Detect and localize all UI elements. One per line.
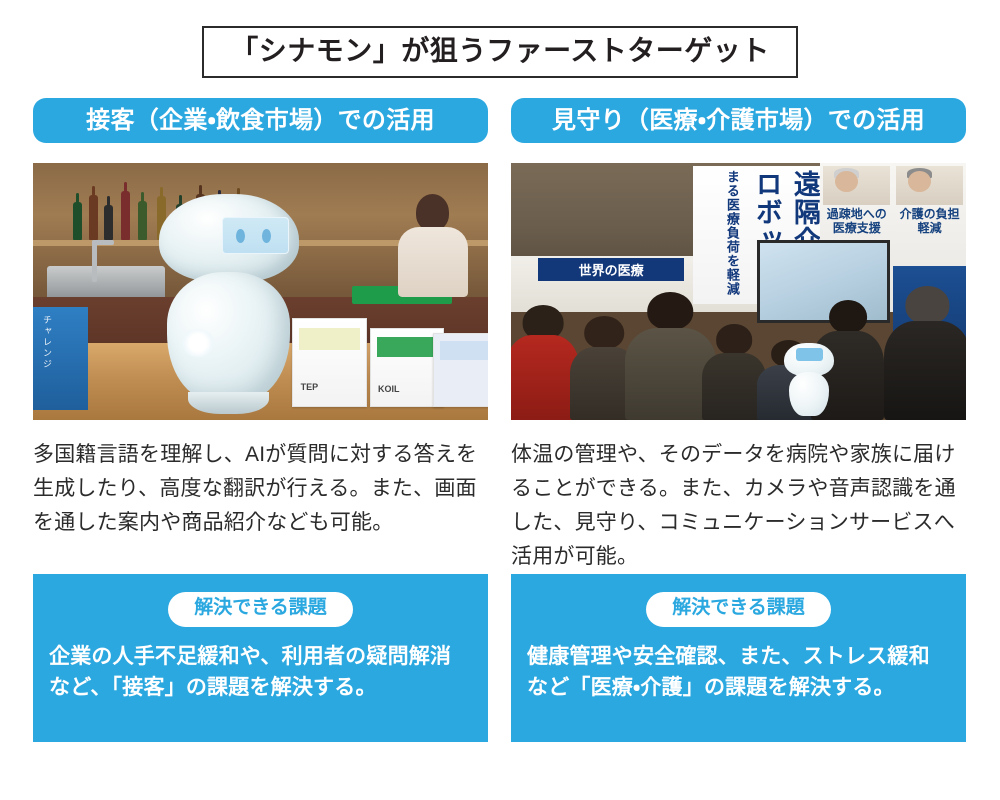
visitor-torso: [884, 321, 966, 420]
banner-text-reduce-burden: まる医療負荷を軽減: [726, 170, 739, 298]
brochure-band: [440, 341, 488, 360]
robot-head: [159, 194, 299, 283]
blue-standee-sign: チャレンジ: [33, 307, 88, 410]
robot-body: [167, 272, 289, 402]
brochure-holder: [433, 333, 488, 407]
page-title-wrap: 「シナモン」が狙うファーストターゲット: [0, 26, 1000, 78]
columns-container: 接客（企業・飲食市場）での活用 チ: [33, 98, 967, 742]
staff-body: [398, 227, 468, 297]
sign-world-medical: 世界の医療: [538, 258, 684, 281]
robot-eye-left: [236, 229, 245, 243]
solution-badge-wrap: 解決できる課題: [49, 592, 472, 627]
care-robot-body: [789, 372, 829, 417]
column-customer-service: 接客（企業・飲食市場）での活用 チ: [33, 98, 488, 742]
robot-face-screen: [222, 217, 290, 254]
brochure-label: KOIL: [378, 384, 400, 394]
visitor-head: [906, 286, 949, 323]
solution-badge: 解決できる課題: [646, 592, 831, 627]
brochure-label: TEP: [301, 382, 319, 392]
faucet: [92, 240, 97, 282]
poster-face: [835, 171, 858, 192]
solution-text: 健康管理や安全確認、また、ストレス緩和など「医療・介護」の課題を解決する。: [527, 641, 950, 704]
column-header-label: 見守り（医療・介護市場）での活用: [552, 109, 925, 133]
visitor-head: [716, 324, 752, 355]
service-robot: [156, 194, 302, 410]
visitor: [511, 305, 579, 420]
poster-man: [896, 166, 963, 205]
solution-box-customer-service: 解決できる課題 企業の人手不足緩和や、利用者の疑問解消など、「接客」の課題を解決…: [33, 574, 488, 742]
staff-head: [416, 194, 449, 231]
care-robot: [784, 343, 834, 415]
poster-elderly: [823, 166, 890, 205]
page-title: 「シナモン」が狙うファーストターゲット: [230, 37, 770, 65]
description-monitoring: 体温の管理や、そのデータを病院や家族に届けることができる。また、カメラや音声認識…: [511, 438, 966, 574]
brochure-band: [299, 328, 360, 351]
page-title-box: 「シナモン」が狙うファーストターゲット: [202, 26, 798, 78]
visitor-head: [584, 316, 624, 349]
poster-face: [908, 171, 931, 192]
solution-box-monitoring: 解決できる課題 健康管理や安全確認、また、ストレス緩和など「医療・介護」の課題を…: [511, 574, 966, 742]
column-monitoring: 見守り（医療・介護市場）での活用 世界の医療 遠隔介護 ロボット まる医療負荷を…: [511, 98, 966, 742]
care-robot-face-screen: [796, 348, 823, 361]
column-header-monitoring: 見守り（医療・介護市場）での活用: [511, 98, 966, 143]
column-header-label: 接客（企業・飲食市場）での活用: [86, 109, 435, 133]
column-header-customer-service: 接客（企業・飲食市場）での活用: [33, 98, 488, 143]
sign-world-medical-text: 世界の医療: [579, 260, 644, 279]
crowd-of-visitors: [511, 286, 966, 420]
brochure-band: [377, 337, 438, 357]
robot-body-light: [182, 329, 214, 357]
staff-person: [397, 194, 470, 297]
panel-caption-care-burden: 介護の負担軽減: [899, 208, 960, 236]
standee-text: チャレンジ: [41, 315, 54, 370]
solution-badge-wrap: 解決できる課題: [527, 592, 950, 627]
visitor-head: [648, 292, 694, 330]
solution-badge: 解決できる課題: [168, 592, 353, 627]
robot-eye-right: [262, 229, 271, 243]
photo-expo-booth: 世界の医療 遠隔介護 ロボット まる医療負荷を軽減 活用 過疎地への医療支援 介…: [511, 163, 966, 420]
visitor-head: [829, 300, 867, 334]
solution-text: 企業の人手不足緩和や、利用者の疑問解消など、「接客」の課題を解決する。: [49, 641, 472, 704]
visitor-torso: [511, 335, 579, 420]
photo-robot-at-counter: チャレンジ TEP KOIL: [33, 163, 488, 420]
brochure-holder: TEP: [292, 318, 367, 407]
visitor: [884, 286, 966, 420]
panel-caption-rural-support: 過疎地への医療支援: [826, 208, 887, 236]
description-customer-service: 多国籍言語を理解し、AIが質問に対する答えを生成したり、高度な翻訳が行える。また…: [33, 438, 488, 540]
